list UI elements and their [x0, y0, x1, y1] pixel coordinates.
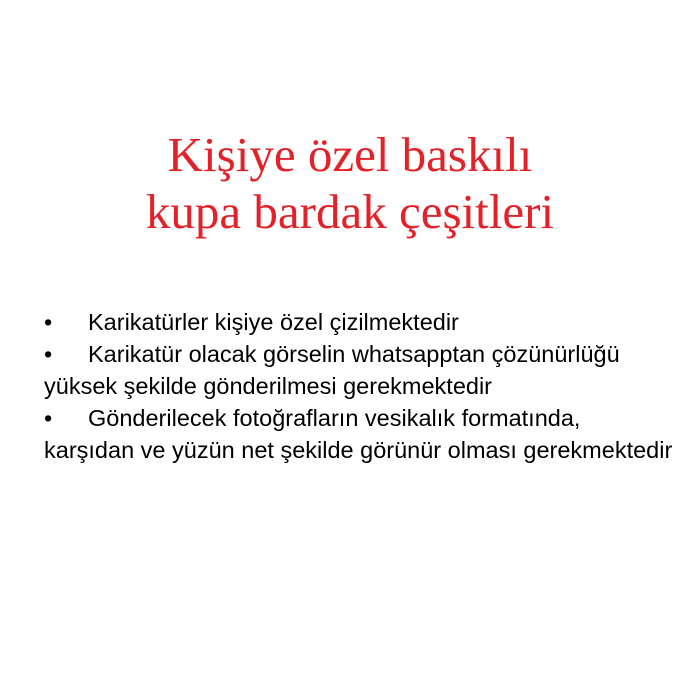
slide-canvas: Kişiye özel baskılı kupa bardak çeşitler… — [0, 0, 700, 700]
list-item-text: Karikatürler kişiye özel çizilmektedir — [88, 309, 459, 335]
bullet-icon: • — [44, 402, 88, 434]
title-line-1: Kişiye özel baskılı — [0, 126, 700, 183]
bullet-icon: • — [44, 306, 88, 338]
title-line-2: kupa bardak çeşitleri — [0, 183, 700, 240]
slide-title: Kişiye özel baskılı kupa bardak çeşitler… — [0, 126, 700, 240]
list-item-text: Karikatür olacak görselin whatsapptan çö… — [44, 341, 620, 399]
bullet-icon: • — [44, 338, 88, 370]
list-item: •Karikatürler kişiye özel çizilmektedir — [44, 306, 674, 338]
bullet-list: •Karikatürler kişiye özel çizilmektedir … — [44, 306, 674, 466]
list-item-text: Gönderilecek fotoğrafların vesikalık for… — [44, 405, 672, 463]
list-item: •Gönderilecek fotoğrafların vesikalık fo… — [44, 402, 674, 466]
list-item: •Karikatür olacak görselin whatsapptan ç… — [44, 338, 674, 402]
